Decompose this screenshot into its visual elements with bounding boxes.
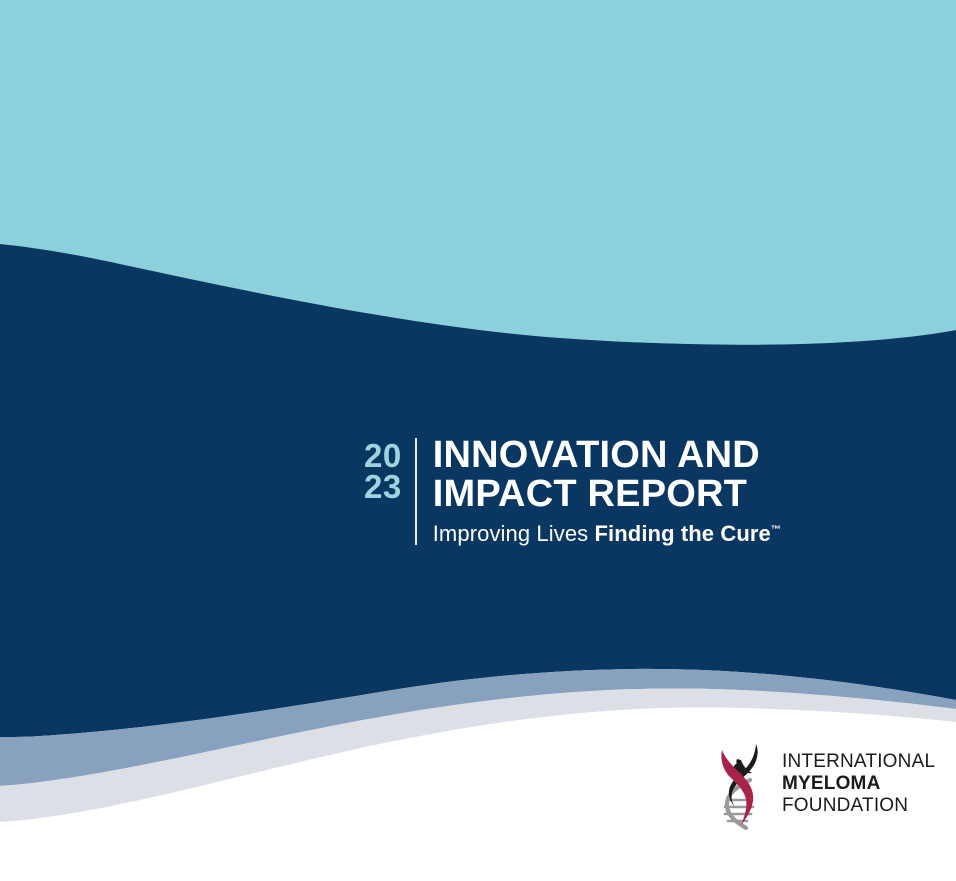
- logo-word-foundation: FOUNDATION: [782, 795, 935, 817]
- imf-logo-lockup: INTERNATIONAL MYELOMA FOUNDATION: [712, 738, 935, 830]
- logo-word-myeloma: MYELOMA: [782, 773, 935, 795]
- report-title-line-2: IMPACT REPORT: [433, 475, 781, 514]
- logo-word-international: INTERNATIONAL: [782, 751, 935, 773]
- cover-title-block: 20 23 INNOVATION AND IMPACT REPORT Impro…: [364, 436, 781, 547]
- tagline-bold-part: Finding the Cure: [595, 521, 771, 546]
- year-bottom-digits: 23: [364, 471, 402, 502]
- imf-dna-helix-figure-icon: [712, 738, 772, 830]
- title-vertical-divider: [415, 438, 417, 545]
- title-text-column: INNOVATION AND IMPACT REPORT Improving L…: [433, 436, 781, 547]
- imf-wordmark: INTERNATIONAL MYELOMA FOUNDATION: [782, 751, 935, 817]
- organization-tagline: Improving Lives Finding the Cure™: [433, 521, 781, 547]
- tagline-light-part: Improving Lives: [433, 521, 595, 546]
- year-stack: 20 23: [364, 436, 402, 502]
- trademark-symbol: ™: [771, 524, 781, 535]
- report-title-line-1: INNOVATION AND: [433, 436, 781, 475]
- year-top-digits: 20: [364, 440, 402, 471]
- report-cover-page: 20 23 INNOVATION AND IMPACT REPORT Impro…: [0, 0, 956, 881]
